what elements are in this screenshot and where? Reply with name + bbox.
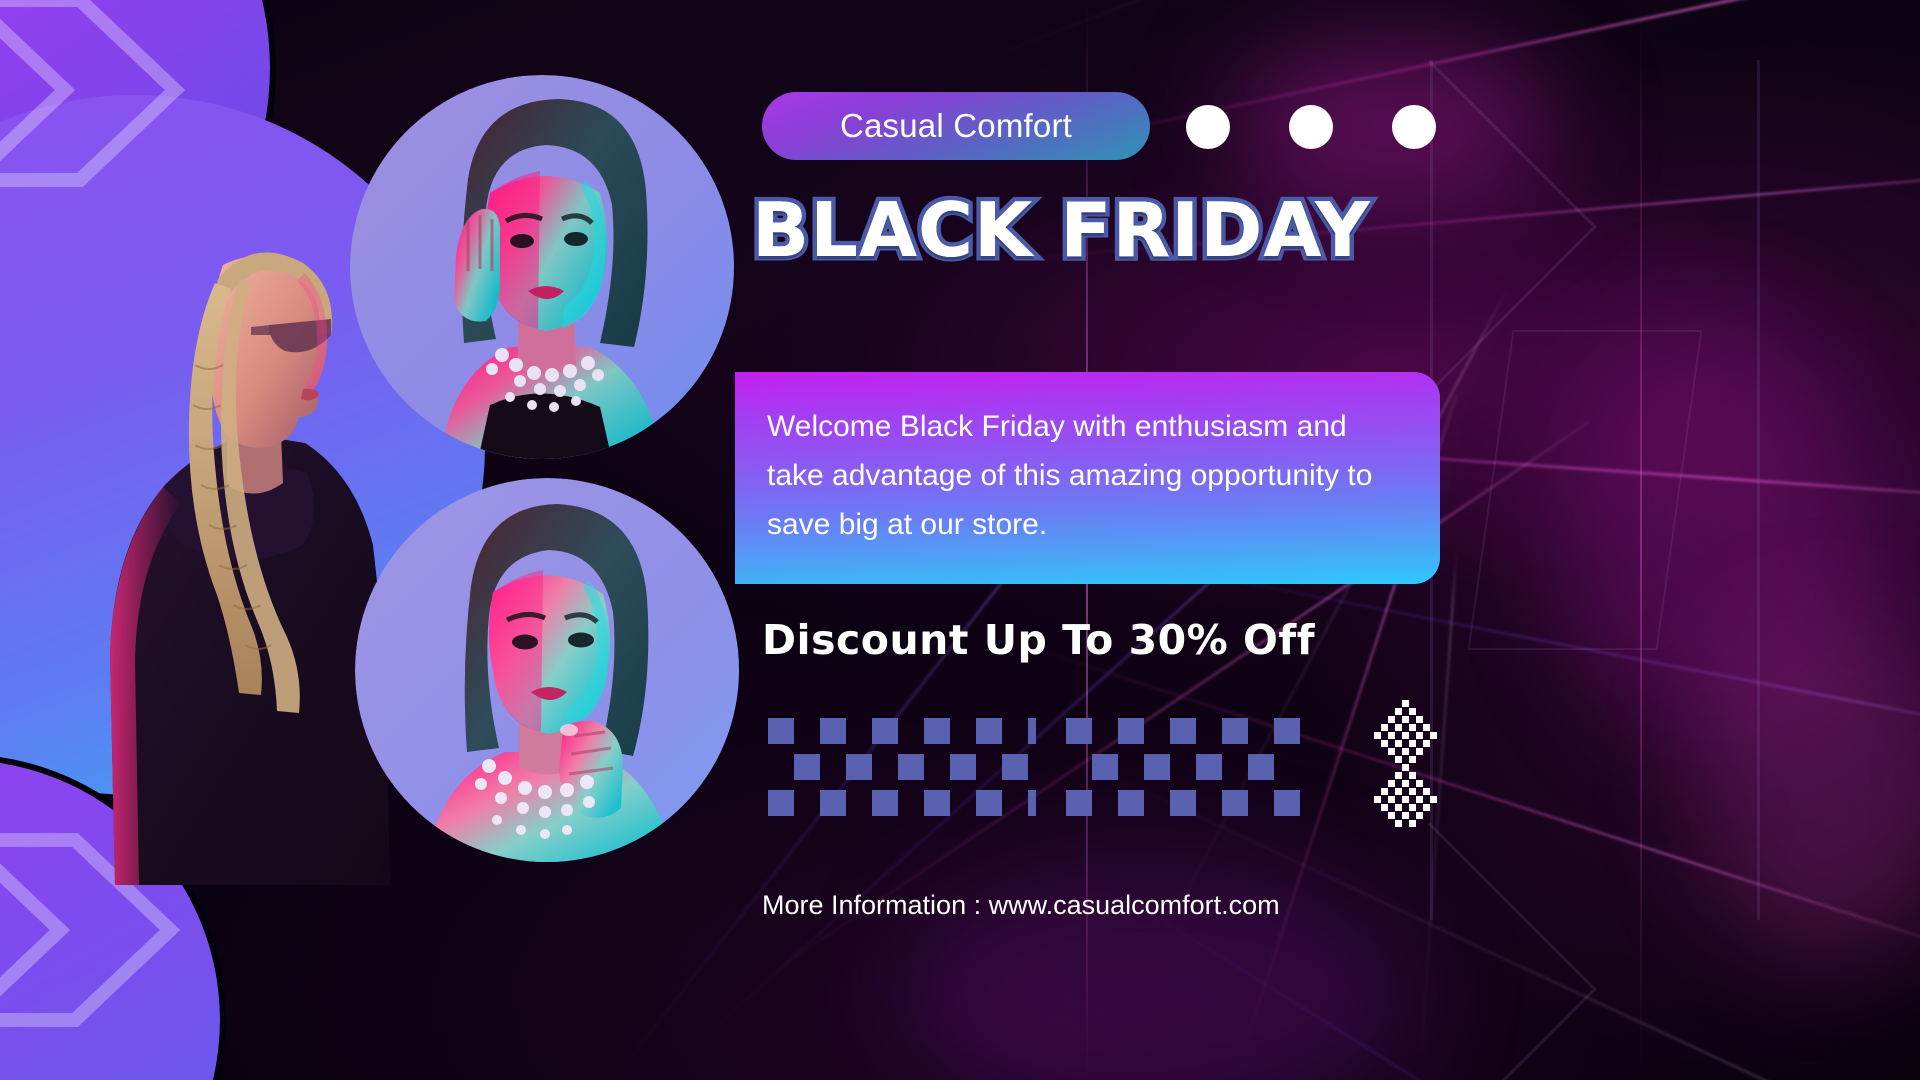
brand-badge[interactable]: Casual Comfort (762, 92, 1150, 160)
discount-headline: Discount Up To 30% Off (762, 616, 1442, 664)
black-friday-banner: Casual Comfort BLACK FRIDAY BLACK FRIDAY… (0, 0, 1920, 1080)
decor-dot-3 (1392, 105, 1436, 149)
description-text: Welcome Black Friday with enthusiasm and… (767, 402, 1400, 549)
checker-pattern-left (768, 718, 1036, 821)
decor-dots-group (1186, 105, 1436, 149)
page-title: BLACK FRIDAY (752, 186, 1442, 274)
model-photo-circle-top (350, 75, 735, 460)
description-panel: Welcome Black Friday with enthusiasm and… (735, 372, 1440, 584)
checker-pattern-right (1066, 718, 1310, 821)
chevron-arrow-icon-top (0, 0, 190, 190)
diamond-dot-ornament (1360, 700, 1452, 830)
brand-badge-label: Casual Comfort (840, 107, 1072, 145)
model-photo-circle-bottom (355, 478, 740, 863)
decor-dot-2 (1289, 105, 1333, 149)
decor-dot-1 (1186, 105, 1230, 149)
more-information-text[interactable]: More Information : www.casualcomfort.com (762, 890, 1452, 921)
